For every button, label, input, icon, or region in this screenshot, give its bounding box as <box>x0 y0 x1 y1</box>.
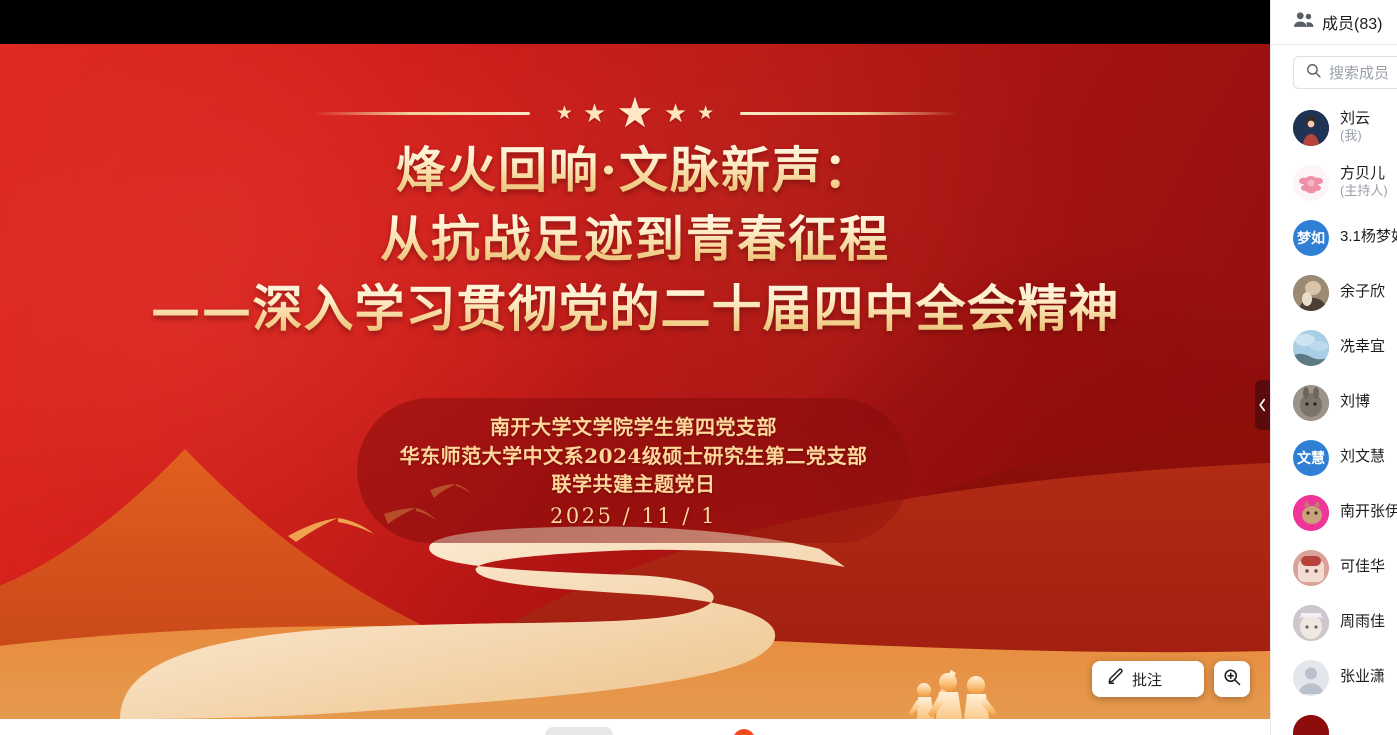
member-text: 刘云 (我) <box>1340 110 1370 145</box>
avatar[interactable] <box>1293 660 1329 696</box>
slide-title: 烽火回响·文脉新声： 从抗战足迹到青春征程 ——深入学习贯彻党的二十届四中全会精… <box>0 140 1270 340</box>
star-divider: ★ ★ ★ ★ ★ <box>0 92 1270 134</box>
presentation-stage: ★ ★ ★ ★ ★ 烽火回响·文脉新声： 从抗战足迹到青春征程 ——深入学习贯彻… <box>0 0 1270 735</box>
subtitle-line-1: 南开大学文学院学生第四党支部 <box>490 413 777 441</box>
member-name: 方贝儿 <box>1340 165 1388 183</box>
list-item[interactable]: 南开张伊佳 <box>1271 485 1397 540</box>
slide-bottom-gap <box>0 719 1270 735</box>
member-text: 张业潇 <box>1340 668 1385 686</box>
title-line-2: 从抗战足迹到青春征程 <box>0 209 1270 270</box>
member-name: 可佳华 <box>1340 558 1385 576</box>
zoom-in-button[interactable] <box>1214 661 1250 697</box>
avatar[interactable] <box>1293 605 1329 641</box>
avatar[interactable] <box>1293 165 1329 201</box>
list-item[interactable] <box>1271 705 1397 735</box>
pencil-icon <box>1106 667 1125 691</box>
member-text: 南开张伊佳 <box>1340 503 1397 521</box>
member-name: 冼幸宜 <box>1340 338 1385 356</box>
member-text: 冼幸宜 <box>1340 338 1385 356</box>
member-text: 刘博 <box>1340 393 1370 411</box>
list-item[interactable]: 周雨佳 <box>1271 595 1397 650</box>
slide-subtitle-panel: 南开大学文学院学生第四党支部 华东师范大学中文系2024级硕士研究生第二党支部 … <box>357 398 910 543</box>
list-item[interactable]: 文慧 刘文慧 <box>1271 430 1397 485</box>
divider-stars: ★ ★ ★ ★ ★ <box>556 92 714 134</box>
list-item[interactable]: 刘云 (我) <box>1271 100 1397 155</box>
search-icon <box>1305 62 1322 84</box>
zoom-in-icon <box>1222 667 1242 692</box>
search-placeholder: 搜索成员 <box>1329 62 1389 83</box>
member-name: 周雨佳 <box>1340 613 1385 631</box>
panel-collapse-handle[interactable] <box>1255 380 1270 430</box>
members-search-row: 搜索成员 <box>1271 45 1397 100</box>
members-panel-title: 成员(83) <box>1322 10 1382 34</box>
bottom-toolbar-pill[interactable] <box>545 727 613 735</box>
subtitle-date: 2025 / 11 / 1 <box>550 504 717 528</box>
list-item[interactable]: 张业潇 <box>1271 650 1397 705</box>
list-item[interactable]: 刘博 <box>1271 375 1397 430</box>
avatar[interactable] <box>1293 715 1329 735</box>
member-name: 3.1杨梦如 <box>1340 228 1397 246</box>
avatar[interactable] <box>1293 110 1329 146</box>
avatar[interactable] <box>1293 330 1329 366</box>
member-name: 刘博 <box>1340 393 1370 411</box>
avatar-initials: 文慧 <box>1297 451 1325 465</box>
avatar[interactable]: 文慧 <box>1293 440 1329 476</box>
member-name: 刘云 <box>1340 110 1370 128</box>
star-icon: ★ <box>664 100 687 126</box>
title-line-1: 烽火回响·文脉新声： <box>0 140 1270 201</box>
avatar[interactable] <box>1293 385 1329 421</box>
marching-figures-silhouette <box>898 664 1018 719</box>
annotate-label: 批注 <box>1132 669 1162 690</box>
star-icon: ★ <box>616 92 654 134</box>
avatar[interactable]: 梦如 <box>1293 220 1329 256</box>
letterbox-top-bar <box>0 0 1270 45</box>
list-item[interactable]: 冼幸宜 <box>1271 320 1397 375</box>
member-name: 张业潇 <box>1340 668 1385 686</box>
member-name: 余子欣 <box>1340 283 1385 301</box>
member-text: 余子欣 <box>1340 283 1385 301</box>
search-input[interactable]: 搜索成员 <box>1293 56 1397 89</box>
member-text: 可佳华 <box>1340 558 1385 576</box>
avatar[interactable] <box>1293 550 1329 586</box>
subtitle-line-2: 华东师范大学中文系2024级硕士研究生第二党支部 <box>400 442 868 470</box>
member-text: 刘文慧 <box>1340 448 1385 466</box>
list-item[interactable]: 余子欣 <box>1271 265 1397 320</box>
star-icon: ★ <box>556 104 573 123</box>
member-role: (我) <box>1340 128 1370 145</box>
members-icon <box>1293 11 1314 33</box>
avatar[interactable] <box>1293 495 1329 531</box>
divider-line-left <box>312 112 530 115</box>
divider-line-right <box>740 112 958 115</box>
member-name: 南开张伊佳 <box>1340 503 1397 521</box>
member-role: (主持人) <box>1340 183 1388 200</box>
chevron-left-icon <box>1258 398 1267 412</box>
member-text: 周雨佳 <box>1340 613 1385 631</box>
avatar[interactable] <box>1293 275 1329 311</box>
member-text: 3.1杨梦如 <box>1340 228 1397 246</box>
list-item[interactable]: 可佳华 <box>1271 540 1397 595</box>
members-panel: 成员(83) 搜索成员 刘云 (我) <box>1270 0 1397 735</box>
member-text: 方贝儿 (主持人) <box>1340 165 1388 200</box>
list-item[interactable]: 方贝儿 (主持人) <box>1271 155 1397 210</box>
members-list[interactable]: 刘云 (我) 方贝儿 (主持人) 梦如 3.1杨梦如 <box>1271 100 1397 735</box>
star-icon: ★ <box>583 100 606 126</box>
members-panel-header: 成员(83) <box>1271 0 1397 45</box>
avatar-initials: 梦如 <box>1297 231 1325 245</box>
slide-controls: 批注 <box>1092 661 1250 697</box>
slide-canvas[interactable]: ★ ★ ★ ★ ★ 烽火回响·文脉新声： 从抗战足迹到青春征程 ——深入学习贯彻… <box>0 44 1270 719</box>
annotate-button[interactable]: 批注 <box>1092 661 1204 697</box>
list-item[interactable]: 梦如 3.1杨梦如 <box>1271 210 1397 265</box>
member-name: 刘文慧 <box>1340 448 1385 466</box>
title-line-3: ——深入学习贯彻党的二十届四中全会精神 <box>0 278 1270 340</box>
star-icon: ★ <box>697 104 714 123</box>
subtitle-line-3: 联学共建主题党日 <box>552 470 716 498</box>
meeting-screen-share-window: ★ ★ ★ ★ ★ 烽火回响·文脉新声： 从抗战足迹到青春征程 ——深入学习贯彻… <box>0 0 1397 735</box>
